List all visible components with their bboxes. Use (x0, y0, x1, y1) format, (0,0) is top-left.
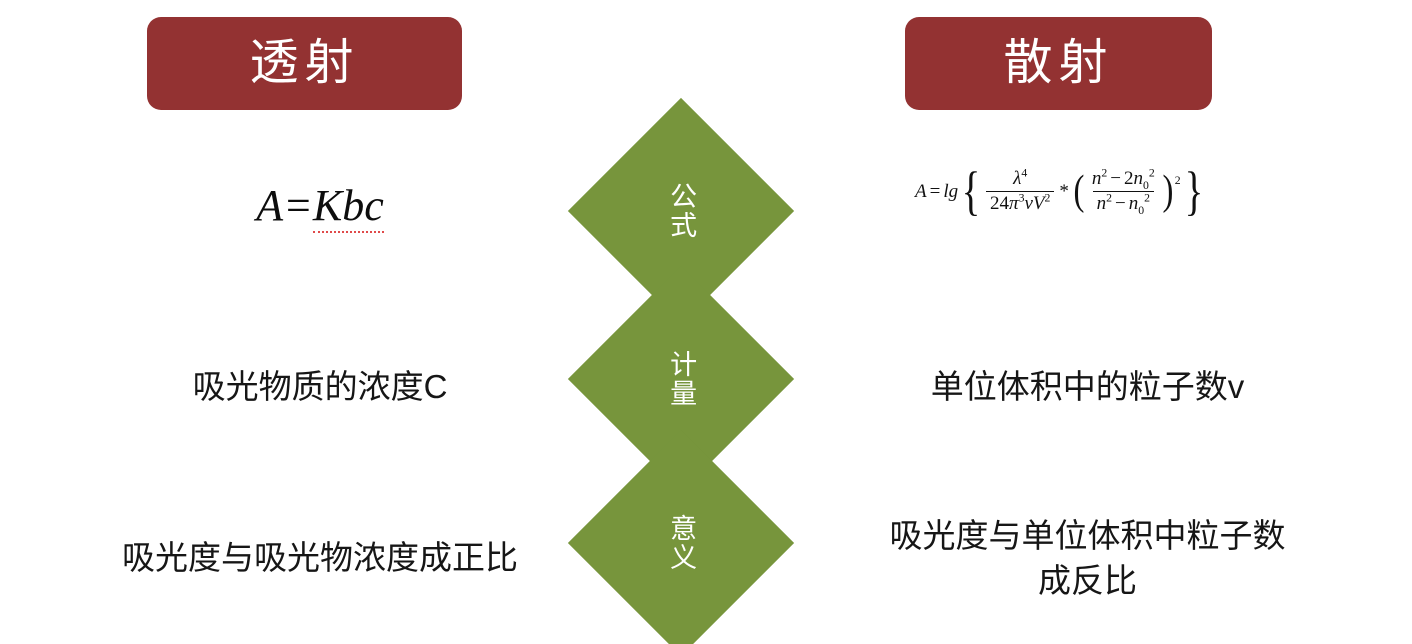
math-fraction-left-denominator: 24π3vV2 (986, 191, 1054, 215)
math-brace-close: } (1184, 172, 1203, 211)
math-outer-exponent: 2 (1175, 174, 1181, 188)
math-fraction-right-denominator: n2−n02 (1093, 191, 1154, 215)
math-lg: lg (943, 181, 958, 203)
measure-right-text: 单位体积中的粒子数v (800, 365, 1375, 410)
comparison-diagram-slide: 透射 散射 公式 计量 意义 (0, 0, 1412, 644)
math-lambda-exponent: 4 (1021, 167, 1027, 180)
formula-right-scattering: A = lg { λ4 24π3vV2 * ( n2−2n02 n2−n02 )… (915, 168, 1265, 215)
meaning-left-text: 吸光度与吸光物浓度成正比 (40, 536, 600, 581)
math-paren-close: ) (1162, 176, 1173, 206)
math-brace-open: { (962, 172, 981, 211)
header-pill-right: 散射 (905, 17, 1212, 110)
meaning-right-line-1: 吸光度与单位体积中粒子数 (800, 514, 1375, 559)
math-minus-1: − (1107, 168, 1124, 189)
math-fraction-left-numerator: λ4 (1009, 168, 1031, 191)
math-n4: n (1129, 193, 1139, 214)
math-minus-2: − (1112, 193, 1129, 214)
diamond-node-meaning[interactable]: 意义 (601, 463, 761, 623)
math-V: V (1033, 193, 1045, 214)
math-times: * (1056, 181, 1072, 203)
math-n2-exponent: 2 (1149, 167, 1155, 180)
math-24: 24 (990, 193, 1009, 214)
meaning-right-text: 吸光度与单位体积中粒子数 成反比 (800, 514, 1375, 603)
math-fraction-right: n2−2n02 n2−n02 (1088, 168, 1159, 215)
math-n1: n (1092, 168, 1102, 189)
math-n4-exponent: 2 (1144, 192, 1150, 205)
math-paren-open: ( (1073, 176, 1084, 206)
math-A: A (915, 181, 927, 203)
math-n2-subscript: 0 (1143, 179, 1149, 192)
formula-left-lead: A= (256, 181, 313, 230)
header-right-label: 散射 (1003, 39, 1113, 88)
math-pi: π (1009, 193, 1019, 214)
math-fraction-left: λ4 24π3vV2 (986, 168, 1054, 215)
math-fraction-right-numerator: n2−2n02 (1088, 168, 1159, 191)
math-n4-subscript: 0 (1138, 204, 1144, 217)
math-two: 2 (1124, 168, 1134, 189)
formula-left-misspelled: Kbc (313, 181, 384, 233)
math-n3: n (1097, 193, 1107, 214)
math-n2: n (1134, 168, 1144, 189)
formula-left-transmission: A=Kbc (40, 180, 600, 231)
math-nu: v (1024, 193, 1032, 214)
header-left-label: 透射 (249, 39, 359, 88)
header-pill-left: 透射 (147, 17, 462, 110)
math-equals: = (927, 181, 944, 203)
measure-left-text: 吸光物质的浓度C (40, 365, 600, 410)
math-V-exponent: 2 (1045, 192, 1051, 205)
meaning-right-line-2: 成反比 (800, 559, 1375, 604)
diamond-label-meaning: 意义 (601, 463, 761, 623)
